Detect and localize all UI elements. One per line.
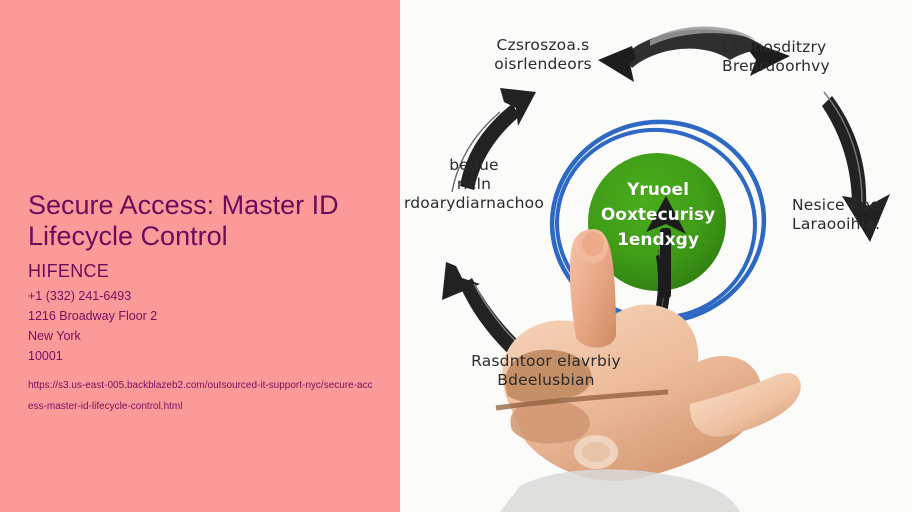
zip-code: 10001 bbox=[28, 346, 378, 366]
page-title: Secure Access: Master ID Lifecycle Contr… bbox=[28, 190, 378, 252]
page-url[interactable]: https://s3.us-east-005.backblazeb2.com/o… bbox=[28, 375, 378, 417]
company-name: HIFENCE bbox=[28, 260, 378, 282]
business-info-block: Secure Access: Master ID Lifecycle Contr… bbox=[28, 190, 378, 417]
city-name: New York bbox=[28, 326, 378, 346]
street-address: 1216 Broadway Floor 2 bbox=[28, 306, 378, 326]
cycle-label-left: bedue ricln rdoarydiarnachoo bbox=[400, 156, 554, 213]
cycle-label-top-right: Lsionosditzry Brenruoorhvy bbox=[722, 38, 902, 76]
hand-pointing-graphic bbox=[400, 0, 912, 512]
cycle-label-bottom: Rasdntoor elavrbiy Bdeelusbian bbox=[436, 352, 656, 390]
cycle-label-right: Nesice Aoe Laraooihia: bbox=[792, 196, 912, 234]
phone-number: +1 (332) 241-6493 bbox=[28, 286, 378, 306]
cycle-diagram-panel: Czsroszoa.s oisrlendeors Lsionosditzry B… bbox=[400, 0, 912, 512]
screenshot-root: Secure Access: Master ID Lifecycle Contr… bbox=[0, 0, 912, 512]
left-info-panel: Secure Access: Master ID Lifecycle Contr… bbox=[0, 0, 400, 512]
cycle-label-top-left: Czsroszoa.s oisrlendeors bbox=[458, 36, 628, 74]
